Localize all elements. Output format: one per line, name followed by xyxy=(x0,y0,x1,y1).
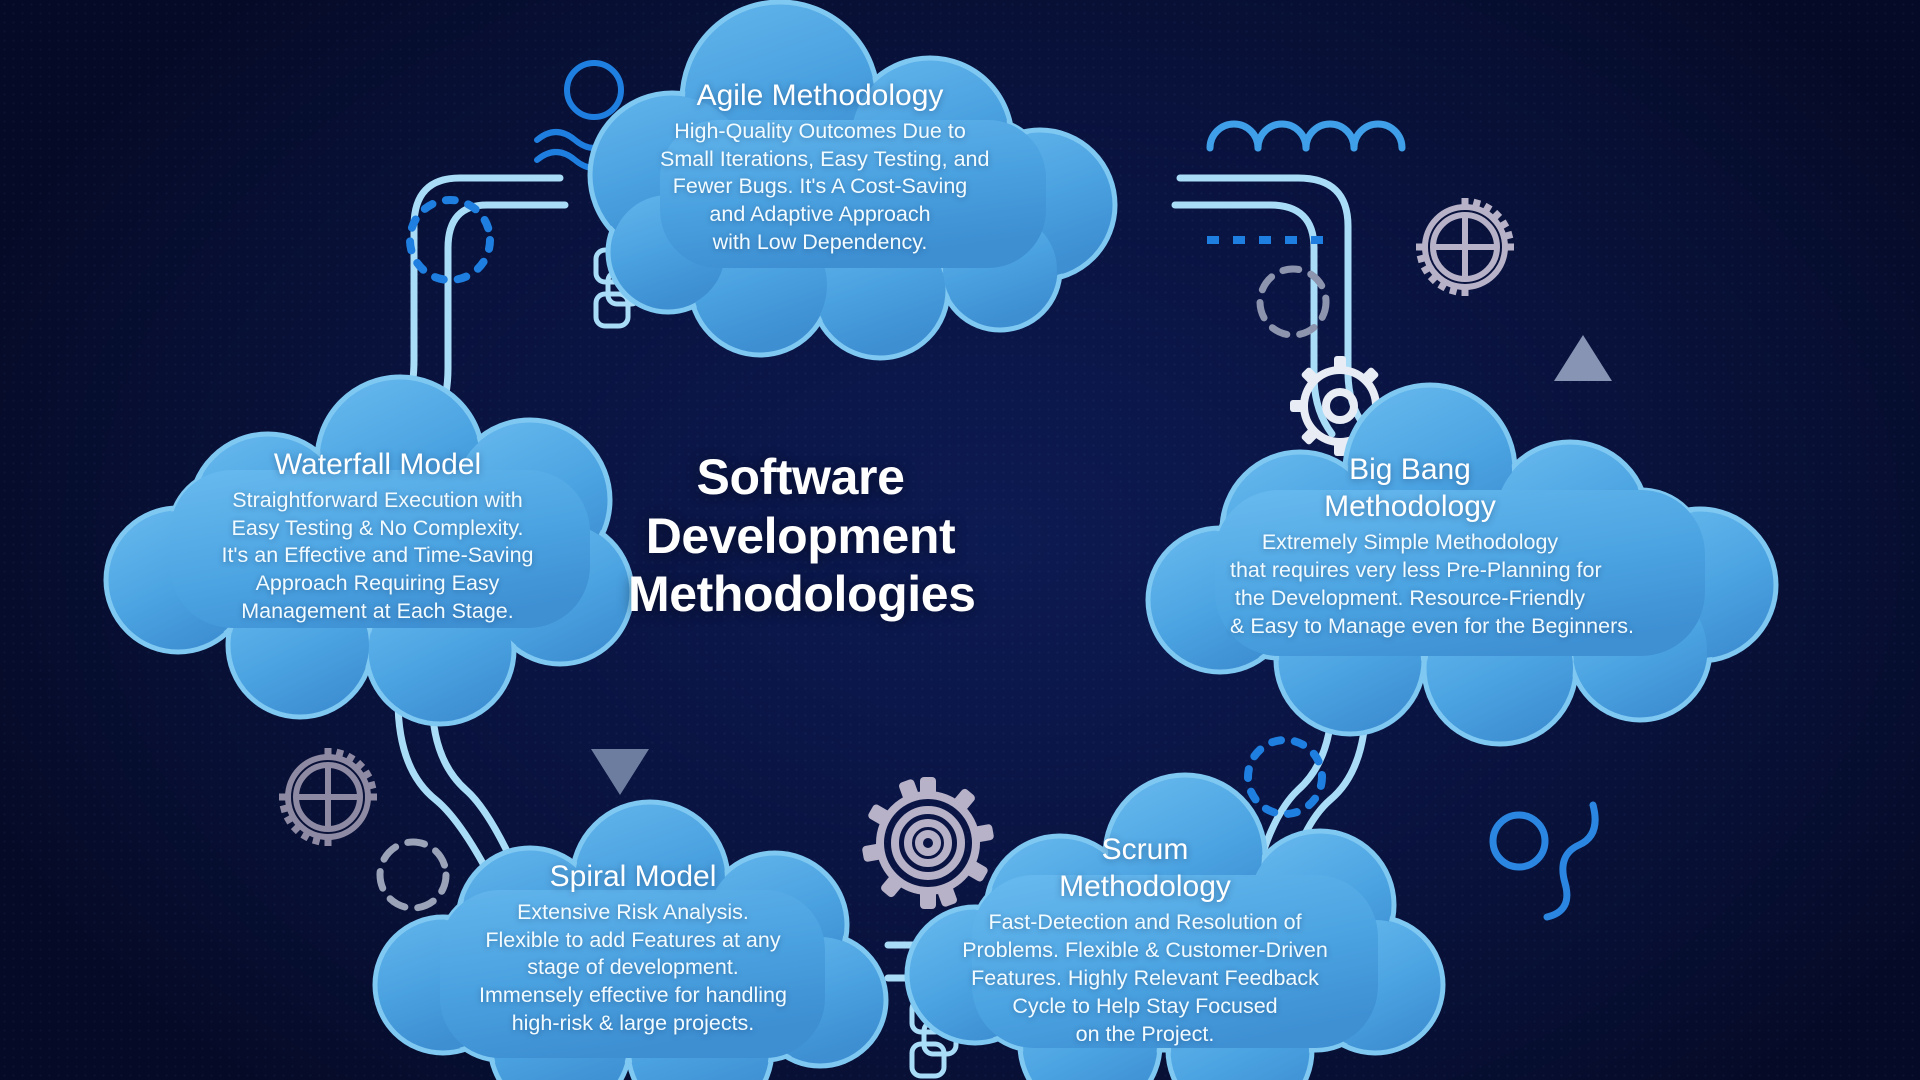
title-line: Methodology xyxy=(1324,490,1496,523)
body-line: Easy Testing & No Complexity. xyxy=(205,515,550,543)
body-line: & Easy to Manage even for the Beginners. xyxy=(1230,613,1590,641)
title-line: Methodology xyxy=(1059,870,1231,903)
infographic-canvas: Software Development Methodologies Agile… xyxy=(0,0,1920,1080)
body-line: Flexible to add Features at any xyxy=(448,927,818,955)
cloud-body-scrum: Fast-Detection and Resolution of Problem… xyxy=(960,909,1330,1049)
body-line: Cycle to Help Stay Focused xyxy=(960,993,1330,1021)
page-title-line-2: Development xyxy=(628,507,973,566)
page-title-line-1: Software xyxy=(628,448,973,507)
body-line: Fewer Bugs. It's A Cost-Saving xyxy=(660,173,980,201)
text-layer: Software Development Methodologies Agile… xyxy=(0,0,1920,1080)
body-line: the Development. Resource-Friendly xyxy=(1230,585,1590,613)
body-line: Extremely Simple Methodology xyxy=(1230,529,1590,557)
body-line: Straightforward Execution with xyxy=(205,487,550,515)
cloud-title-spiral: Spiral Model xyxy=(448,859,818,896)
cloud-body-waterfall: Straightforward Execution with Easy Test… xyxy=(205,487,550,627)
title-line: Big Bang xyxy=(1349,453,1471,486)
body-line: and Adaptive Approach xyxy=(660,201,980,229)
body-line: Features. Highly Relevant Feedback xyxy=(960,965,1330,993)
body-line: Small Iterations, Easy Testing, and xyxy=(660,146,980,174)
cloud-body-spiral: Extensive Risk Analysis. Flexible to add… xyxy=(448,899,818,1039)
cloud-text-waterfall: Waterfall Model Straightforward Executio… xyxy=(205,447,550,626)
cloud-text-agile: Agile Methodology High-Quality Outcomes … xyxy=(660,78,980,257)
page-title-line-3: Methodologies xyxy=(628,565,973,624)
body-line: high-risk & large projects. xyxy=(448,1010,818,1038)
body-line: Management at Each Stage. xyxy=(205,598,550,626)
cloud-text-scrum: Scrum Methodology Fast-Detection and Res… xyxy=(960,832,1330,1048)
cloud-title-bigbang: Big Bang Methodology xyxy=(1230,452,1590,526)
body-line: Extensive Risk Analysis. xyxy=(448,899,818,927)
body-line: Problems. Flexible & Customer-Driven xyxy=(960,937,1330,965)
cloud-text-bigbang: Big Bang Methodology Extremely Simple Me… xyxy=(1230,452,1590,641)
cloud-body-agile: High-Quality Outcomes Due to Small Itera… xyxy=(660,118,980,258)
cloud-title-agile: Agile Methodology xyxy=(660,78,980,115)
cloud-body-bigbang: Extremely Simple Methodology that requir… xyxy=(1230,529,1590,641)
body-line: Immensely effective for handling xyxy=(448,982,818,1010)
body-line: Approach Requiring Easy xyxy=(205,570,550,598)
body-line: with Low Dependency. xyxy=(660,229,980,257)
body-line: on the Project. xyxy=(960,1021,1330,1049)
body-line: that requires very less Pre-Planning for xyxy=(1230,557,1590,585)
body-line: It's an Effective and Time-Saving xyxy=(205,542,550,570)
page-title: Software Development Methodologies xyxy=(628,448,973,624)
title-line: Scrum xyxy=(1102,833,1189,866)
body-line: stage of development. xyxy=(448,954,818,982)
cloud-title-scrum: Scrum Methodology xyxy=(960,832,1330,906)
body-line: Fast-Detection and Resolution of xyxy=(960,909,1330,937)
body-line: High-Quality Outcomes Due to xyxy=(660,118,980,146)
cloud-title-waterfall: Waterfall Model xyxy=(205,447,550,484)
cloud-text-spiral: Spiral Model Extensive Risk Analysis. Fl… xyxy=(448,859,818,1038)
